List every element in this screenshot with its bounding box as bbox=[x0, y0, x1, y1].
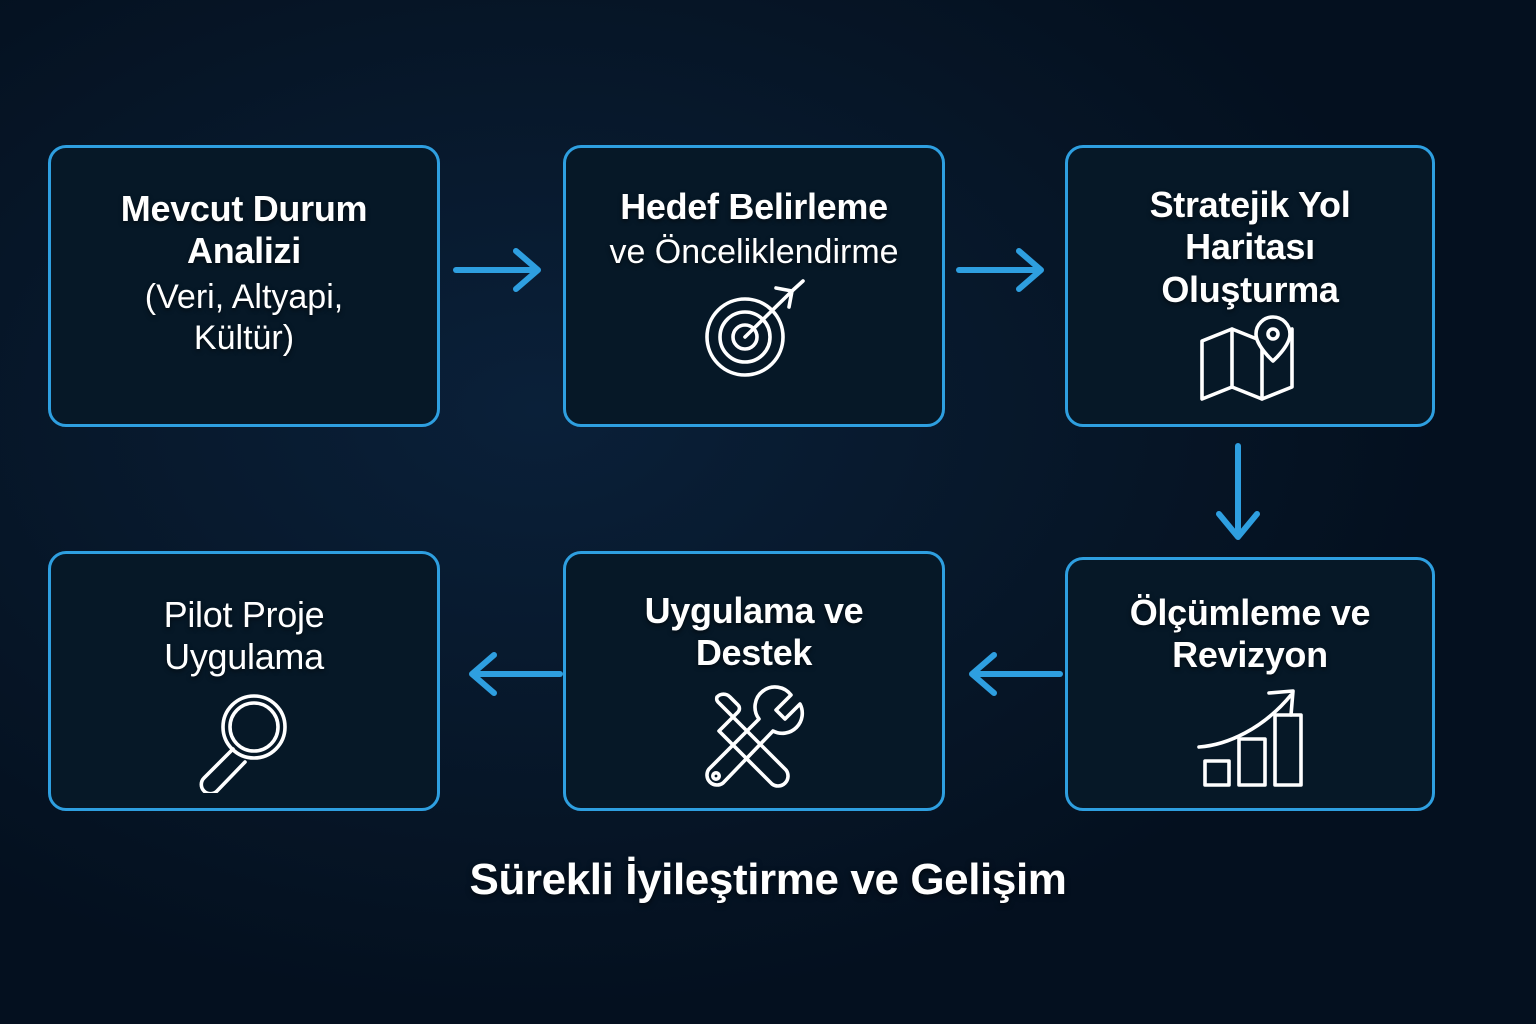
node-title: Mevcut Durum Analizi bbox=[107, 188, 381, 273]
node-subtitle: ve Önceliklendirme bbox=[599, 232, 908, 273]
node-title: Pilot Proje Uygulama bbox=[150, 594, 339, 679]
arrow-down-icon bbox=[1216, 442, 1260, 550]
process-node-stratejik-yol-haritasi[interactable]: Stratejik Yol Haritası Oluşturma bbox=[1065, 145, 1435, 427]
map-pin-icon bbox=[1194, 313, 1306, 405]
diagram-caption: Sürekli İyileştirme ve Gelişim bbox=[0, 855, 1536, 905]
growth-chart-icon bbox=[1191, 685, 1309, 789]
arrow-uygulama-to-pilot bbox=[452, 652, 564, 701]
arrow-olcumleme-to-uygulama bbox=[952, 652, 1064, 701]
node-title: Uygulama ve Destek bbox=[631, 590, 878, 675]
node-icon-container bbox=[192, 689, 296, 793]
arrow-right-icon bbox=[452, 248, 552, 292]
node-icon-container bbox=[1194, 313, 1306, 405]
process-node-mevcut-durum-analizi[interactable]: Mevcut Durum Analizi (Veri, Altyapi, Kül… bbox=[48, 145, 440, 427]
arrow-left-icon bbox=[952, 652, 1064, 696]
node-title: Ölçümleme ve Revizyon bbox=[1116, 592, 1385, 677]
target-icon bbox=[698, 279, 810, 383]
tools-icon bbox=[700, 685, 808, 789]
node-icon-container bbox=[1191, 685, 1309, 789]
node-icon-container bbox=[700, 685, 808, 789]
arrow-left-icon bbox=[452, 652, 564, 696]
arrow-stratejik-to-olcumleme bbox=[1216, 442, 1260, 555]
diagram-canvas: Mevcut Durum Analizi (Veri, Altyapi, Kül… bbox=[0, 0, 1536, 1024]
node-icon-container bbox=[698, 279, 810, 383]
process-node-hedef-belirleme[interactable]: Hedef Belirleme ve Önceliklendirme bbox=[563, 145, 945, 427]
node-subtitle: (Veri, Altyapi, Kültür) bbox=[135, 277, 353, 359]
arrow-mevcut-to-hedef bbox=[452, 248, 552, 297]
process-node-olcumleme-ve-revizyon[interactable]: Ölçümleme ve Revizyon bbox=[1065, 557, 1435, 811]
node-title: Stratejik Yol Haritası Oluşturma bbox=[1136, 184, 1365, 311]
magnifier-icon bbox=[192, 689, 296, 793]
arrow-right-icon bbox=[955, 248, 1055, 292]
process-node-pilot-proje-uygulama[interactable]: Pilot Proje Uygulama bbox=[48, 551, 440, 811]
arrow-hedef-to-stratejik bbox=[955, 248, 1055, 297]
node-title: Hedef Belirleme bbox=[606, 186, 902, 228]
process-node-uygulama-ve-destek[interactable]: Uygulama ve Destek bbox=[563, 551, 945, 811]
